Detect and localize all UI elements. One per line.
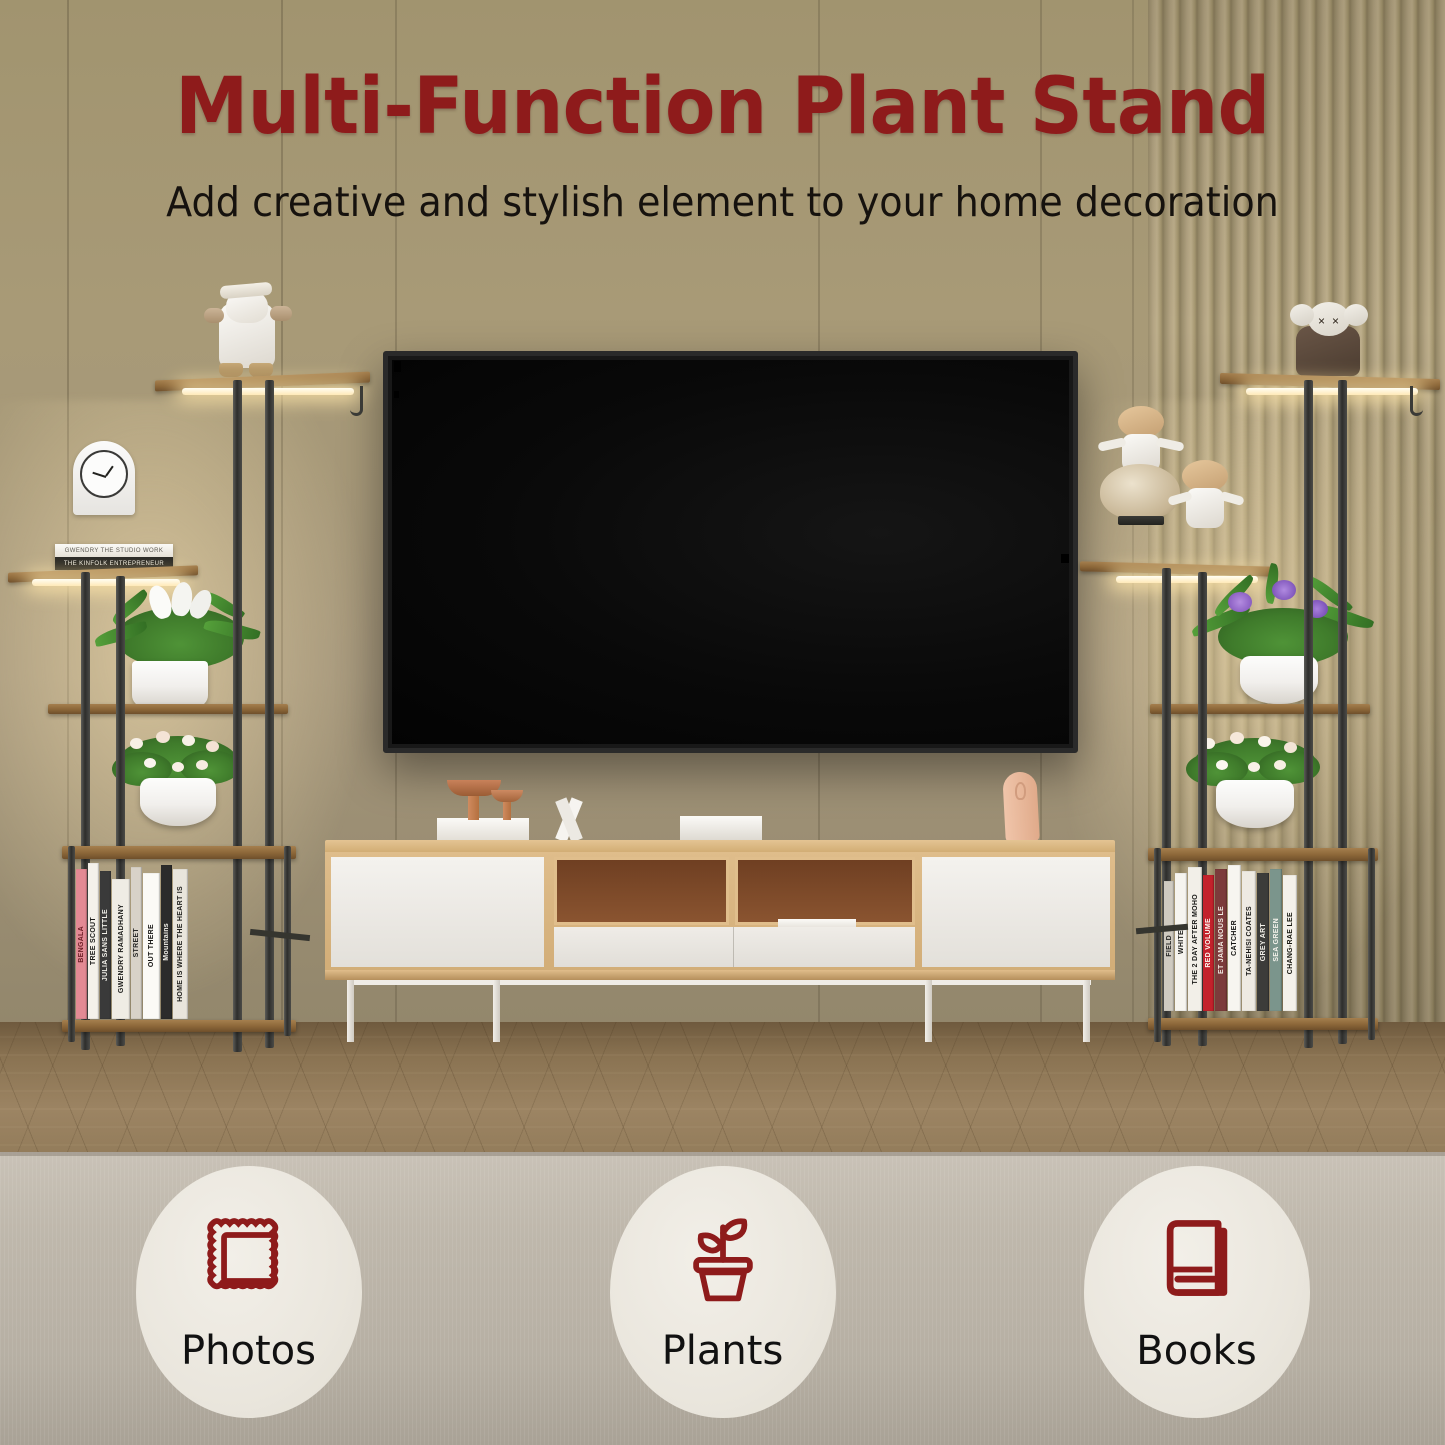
- shelf-tier-2: [1150, 704, 1370, 714]
- plant-pot: [132, 661, 208, 707]
- stand-leg: [1154, 848, 1161, 1042]
- console-leg-rail: [347, 980, 1091, 985]
- book-title: RED VOLUME: [1203, 918, 1214, 968]
- astronaut-body: [1186, 488, 1224, 528]
- white-book-stack: [680, 816, 762, 840]
- book-title: JULIA SANS LITTLE: [100, 909, 111, 981]
- book-spine: SEA GREEN: [1270, 869, 1282, 1011]
- book-spine: ET JAMA NOUS LE: [1215, 869, 1227, 1011]
- kaws-figurine-ear: [1344, 304, 1368, 326]
- stand-leg: [1368, 848, 1375, 1040]
- plant-foliage: [116, 607, 244, 669]
- wall-mounted-tv: [383, 351, 1078, 753]
- page-subtitle: Add creative and stylish element to your…: [51, 178, 1395, 226]
- stone-base: [1100, 464, 1180, 520]
- daisy-flower: [182, 735, 195, 746]
- daisy-flower: [156, 731, 170, 743]
- book-title: SEA GREEN: [1271, 918, 1282, 962]
- book-title: GWENDRY RAMADHANY: [116, 904, 127, 993]
- feature-badge-photos[interactable]: Photos: [136, 1166, 362, 1418]
- astronaut-figurine-boot: [219, 363, 243, 377]
- copper-bowl-stem: [468, 792, 479, 820]
- book-title: FIELD: [1164, 935, 1175, 957]
- tv-screen: [392, 360, 1069, 744]
- stand-post: [1304, 380, 1313, 1048]
- book-spine: BENGALA: [76, 869, 87, 1019]
- tv-side-button: [394, 391, 399, 398]
- book-title: BENGALA: [76, 926, 87, 963]
- small-astronaut-figurine: [1170, 460, 1242, 570]
- console-leg: [925, 980, 932, 1042]
- drawer-divider: [733, 927, 734, 967]
- daisy-flower: [1274, 760, 1286, 770]
- book-spine: TREE SCOUT: [88, 863, 99, 1019]
- photo-frame-icon: [136, 1204, 362, 1312]
- book-spine: HOME IS WHERE THE HEART IS: [173, 869, 188, 1019]
- daisy-flower: [1216, 760, 1228, 770]
- plant-pot: [1216, 780, 1294, 828]
- shelf-tier-1-bottom: [1148, 1018, 1378, 1030]
- book-title: TA-NEHISI COATES: [1244, 906, 1255, 976]
- tv-side-button: [394, 361, 401, 372]
- book-spine: TA-NEHISI COATES: [1242, 871, 1256, 1011]
- daisy-flower: [172, 762, 184, 772]
- book-spine: OUT THERE: [143, 873, 160, 1019]
- book-icon: [1084, 1204, 1310, 1312]
- book-spine: GREY ART: [1257, 873, 1269, 1011]
- book-title: Mountains: [161, 923, 172, 961]
- book-title: CHANG-RAE LEE: [1285, 912, 1296, 974]
- product-image-canvas: Multi-Function Plant Stand Add creative …: [0, 0, 1445, 1445]
- book-title: OUT THERE: [146, 924, 157, 967]
- console-base-rail: [325, 970, 1115, 980]
- kaws-figurine-eye-x: ××: [1318, 314, 1346, 328]
- book-title: HOME IS WHERE THE HEART IS: [175, 886, 186, 1002]
- stand-cross-brace: [250, 929, 310, 941]
- astronaut-figurine-arm: [270, 306, 292, 321]
- daisy-flower: [1230, 732, 1244, 744]
- tv-side-button: [1061, 554, 1069, 563]
- book-spine: JULIA SANS LITTLE: [100, 871, 111, 1019]
- book-spine: STREET: [131, 867, 142, 1019]
- daisy-flower: [206, 741, 219, 752]
- book-spine: Mountains: [161, 865, 172, 1019]
- daisy-flower: [1284, 742, 1297, 753]
- daisy-flower: [144, 758, 156, 768]
- book-spine: CHANG-RAE LEE: [1283, 875, 1297, 1011]
- badge-label: Photos: [136, 1328, 362, 1374]
- tv-console: [325, 840, 1115, 1040]
- book-spine: CATCHER: [1228, 865, 1241, 1011]
- console-cubby-right: [735, 857, 915, 925]
- led-strip-tier-4: [1246, 388, 1418, 395]
- book-title: CATCHER: [1229, 920, 1240, 956]
- left-plant-stand: GWENDRY THE STUDIO WORK THE KINFOLK ENTR…: [0, 280, 370, 1060]
- book-title: TREE SCOUT: [88, 917, 99, 965]
- book-title: STREET: [131, 928, 142, 957]
- stand-post: [265, 380, 274, 1048]
- bookshelf-books: FIELD WHITE THE 2 DAY AFTER MOHO RED VOL…: [1164, 861, 1297, 1011]
- book-title: THE 2 DAY AFTER MOHO: [1190, 894, 1201, 985]
- console-drawer-middle: [554, 927, 915, 967]
- iris-flower: [1228, 592, 1252, 612]
- book-spine: THE 2 DAY AFTER MOHO: [1188, 867, 1202, 1011]
- potted-plant-icon: [610, 1204, 836, 1312]
- feature-badges: Photos Plants: [0, 1166, 1445, 1426]
- book-title: ET JAMA NOUS LE: [1216, 906, 1227, 974]
- face-sculpture-detail: [1015, 782, 1026, 800]
- daisy-flower: [196, 760, 208, 770]
- book-spine: FIELD: [1164, 881, 1174, 1011]
- daisy-flower: [1258, 736, 1271, 747]
- book-title: WHITE: [1176, 930, 1187, 954]
- book-spine: WHITE: [1175, 873, 1187, 1011]
- badge-label: Books: [1084, 1328, 1310, 1374]
- book-title: GREY ART: [1258, 923, 1269, 961]
- clock-face: [80, 450, 128, 498]
- stand-post: [233, 380, 242, 1052]
- page-title: Multi-Function Plant Stand: [43, 62, 1401, 152]
- white-book-stack: [437, 818, 529, 840]
- shelf-tier-1-top: [1148, 848, 1378, 861]
- stone-plinth: [1118, 516, 1164, 525]
- book-spine: GWENDRY RAMADHANY: [112, 879, 130, 1019]
- stand-post: [1338, 380, 1347, 1044]
- feature-badge-plants[interactable]: Plants: [610, 1166, 836, 1418]
- copper-cup-stem: [503, 800, 511, 820]
- bottom-band-edge: [0, 1152, 1445, 1156]
- stand-leg: [68, 846, 75, 1042]
- clock-minute-hand: [92, 472, 106, 478]
- shelf-tier-1-top: [62, 846, 296, 859]
- console-cubby-left: [554, 857, 729, 925]
- console-leg: [493, 980, 500, 1042]
- stand-leg: [284, 846, 291, 1036]
- daisy-flower: [1248, 762, 1260, 772]
- daisy-flower: [130, 738, 143, 749]
- astronaut-figurine-arm: [204, 308, 224, 323]
- clock-hour-hand: [105, 466, 114, 477]
- right-plant-stand: ××: [1080, 280, 1445, 1060]
- shelf-tier-1-bottom: [62, 1020, 296, 1032]
- book-spine: RED VOLUME: [1203, 875, 1214, 1011]
- book-stack-spine: GWENDRY THE STUDIO WORK: [55, 544, 173, 557]
- shelf-hook: [1410, 386, 1423, 416]
- badge-label: Plants: [610, 1328, 836, 1374]
- arch-clock: [73, 441, 135, 515]
- iris-flower: [1272, 580, 1296, 600]
- bookshelf-books: BENGALA TREE SCOUT JULIA SANS LITTLE GWE…: [76, 859, 188, 1019]
- white-daisy-bush: [112, 726, 242, 846]
- plant-pot: [140, 778, 216, 826]
- shelf-hook: [350, 386, 363, 416]
- feature-badge-books[interactable]: Books: [1084, 1166, 1310, 1418]
- kaws-figurine-ear: [1290, 304, 1314, 326]
